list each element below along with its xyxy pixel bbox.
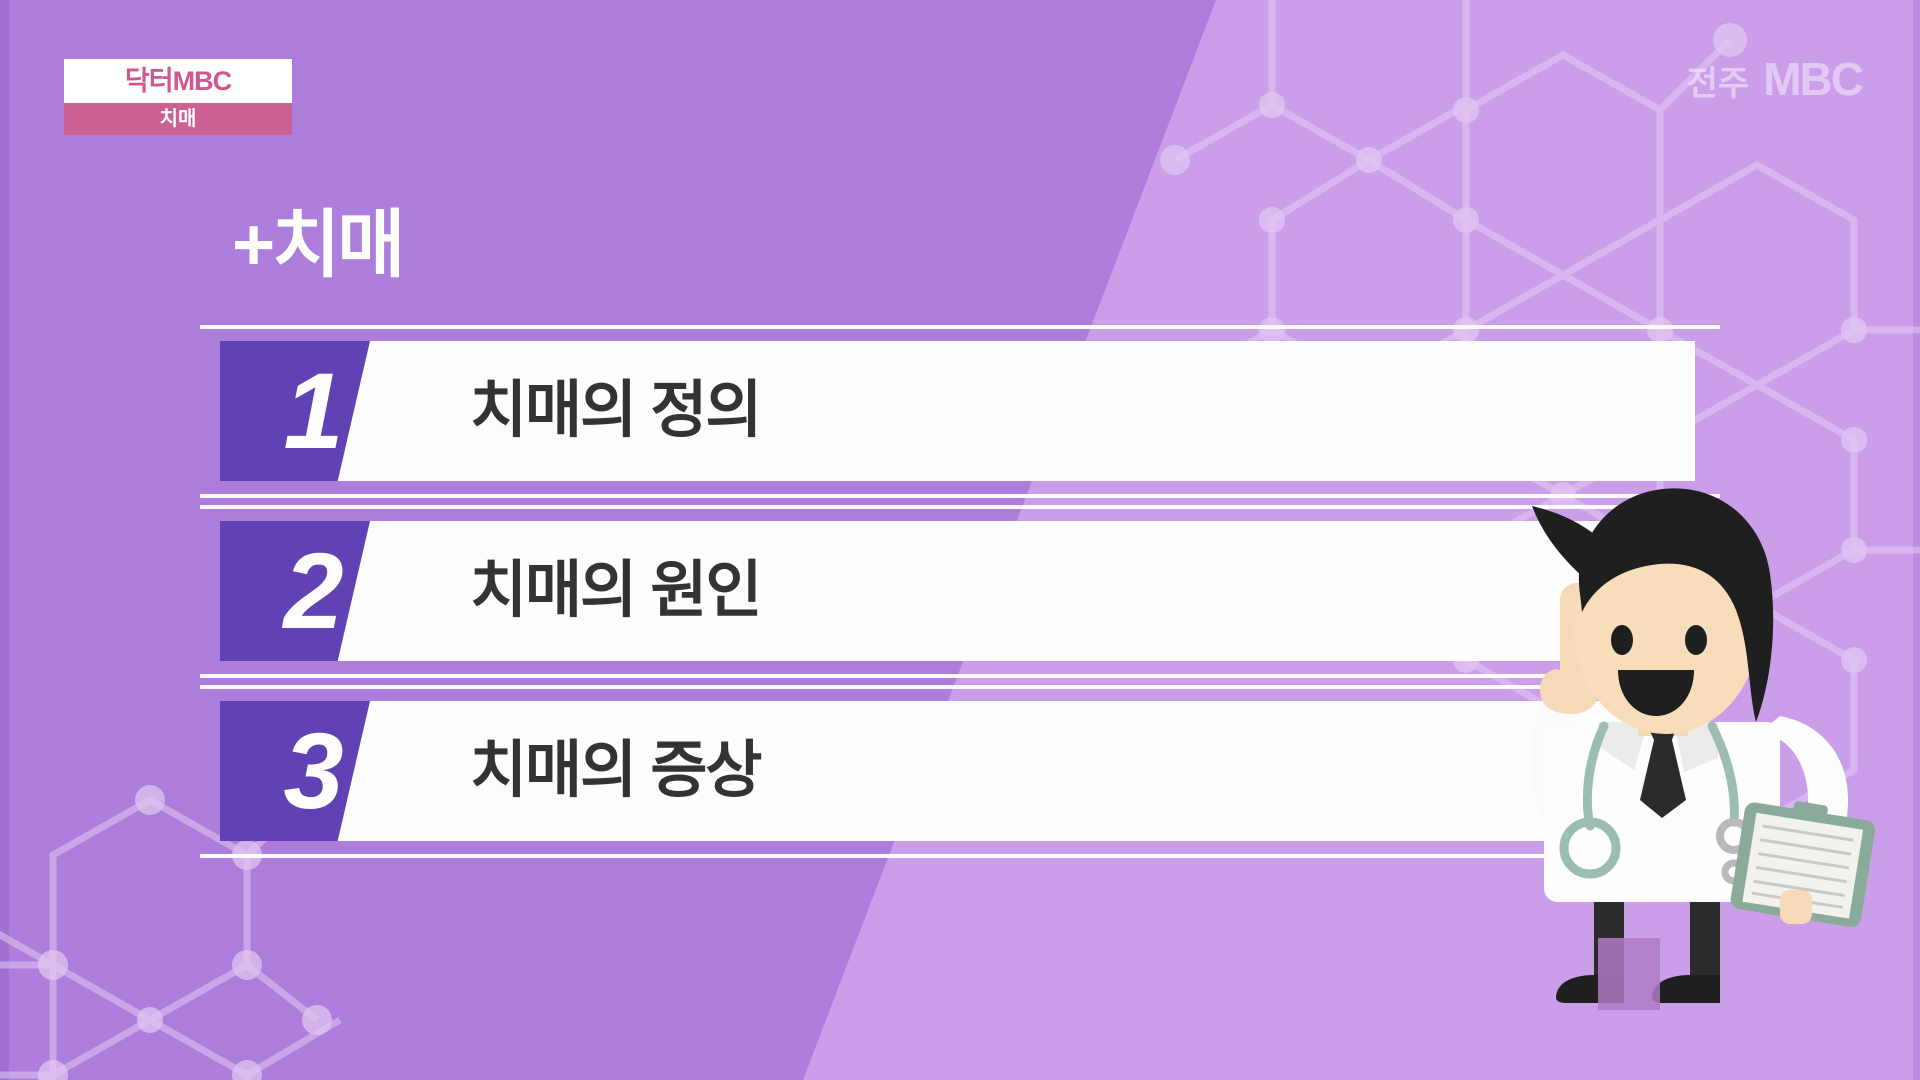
row-background-bar xyxy=(220,521,1695,661)
row-rule-top xyxy=(200,325,1720,329)
program-logo-title-band: 닥터MBC xyxy=(64,59,292,103)
slide-canvas: 닥터MBC 치매 전주 MBC +치매 1 치매의 정의 xyxy=(0,0,1920,1080)
network-logo-region: 전주 xyxy=(1687,67,1750,101)
page-title: +치매 xyxy=(232,208,402,282)
row-rule-bottom xyxy=(200,674,1720,678)
row-number-label: 1 xyxy=(220,341,405,481)
row-background-bar xyxy=(220,341,1695,481)
row-background-bar xyxy=(220,701,1695,841)
row-rule-top xyxy=(200,685,1720,689)
row-title-label: 치매의 증상 xyxy=(470,701,760,841)
row-title-label: 치매의 원인 xyxy=(470,521,760,661)
row-number-label: 2 xyxy=(220,521,405,661)
row-number-label: 3 xyxy=(220,701,405,841)
program-logo-title: 닥터MBC xyxy=(125,68,231,95)
row-title-label: 치매의 정의 xyxy=(470,341,760,481)
network-logo-brand: MBC xyxy=(1763,56,1862,102)
program-logo-subtitle-band: 치매 xyxy=(64,103,292,135)
doctor-character-icon xyxy=(1498,470,1920,1010)
network-logo: 전주 MBC xyxy=(1687,56,1862,102)
row-rule-bottom xyxy=(200,854,1720,858)
row-rule-bottom xyxy=(200,494,1720,498)
program-logo-subtitle: 치매 xyxy=(160,109,197,129)
program-logo-badge: 닥터MBC 치매 xyxy=(64,59,292,135)
row-rule-top xyxy=(200,505,1720,509)
